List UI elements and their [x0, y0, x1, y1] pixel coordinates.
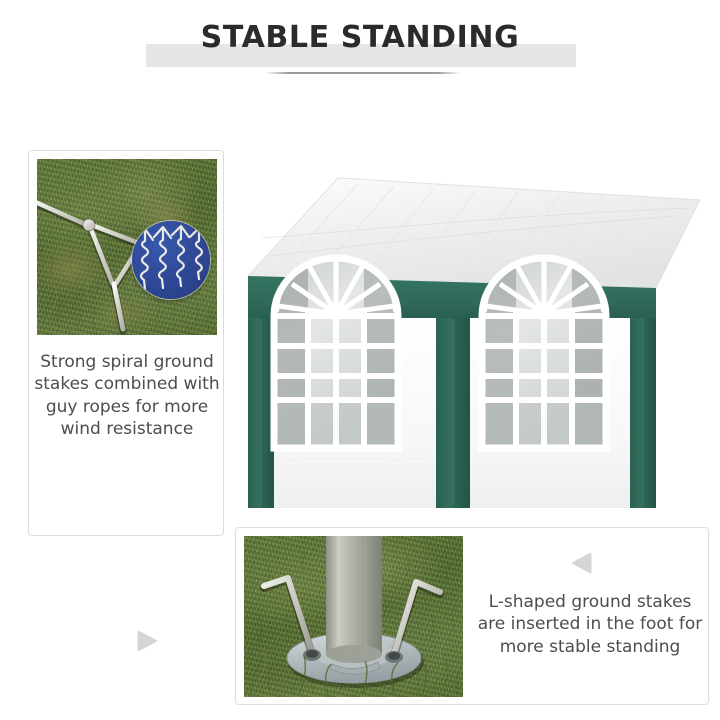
- feature-card-l-stakes: L-shaped ground stakes are inserted in t…: [235, 527, 709, 705]
- leg-foot-stake-photo: [244, 536, 463, 697]
- gazebo-illustration: [238, 160, 710, 512]
- leg-foot-illustration: [244, 536, 463, 697]
- arrow-left-icon: [572, 553, 591, 573]
- title-underline-rule: [265, 72, 461, 74]
- spiral-stakes-blue-inset: [132, 221, 210, 299]
- page-title: STABLE STANDING: [0, 20, 720, 55]
- party-tent-gazebo-image: [238, 160, 710, 512]
- window-right: [482, 256, 606, 448]
- spiral-ground-stake-photo: [37, 159, 217, 335]
- feature-caption-left: Strong spiral ground stakes combined wit…: [33, 351, 221, 441]
- window-left: [274, 256, 398, 448]
- spiral-stakes-diagram: [132, 221, 210, 299]
- arrow-right-icon: [138, 631, 157, 651]
- feature-card-spiral-stakes: Strong spiral ground stakes combined wit…: [28, 150, 224, 536]
- feature-caption-bottom: L-shaped ground stakes are inserted in t…: [476, 591, 704, 658]
- marketing-infographic: STABLE STANDING: [0, 0, 720, 720]
